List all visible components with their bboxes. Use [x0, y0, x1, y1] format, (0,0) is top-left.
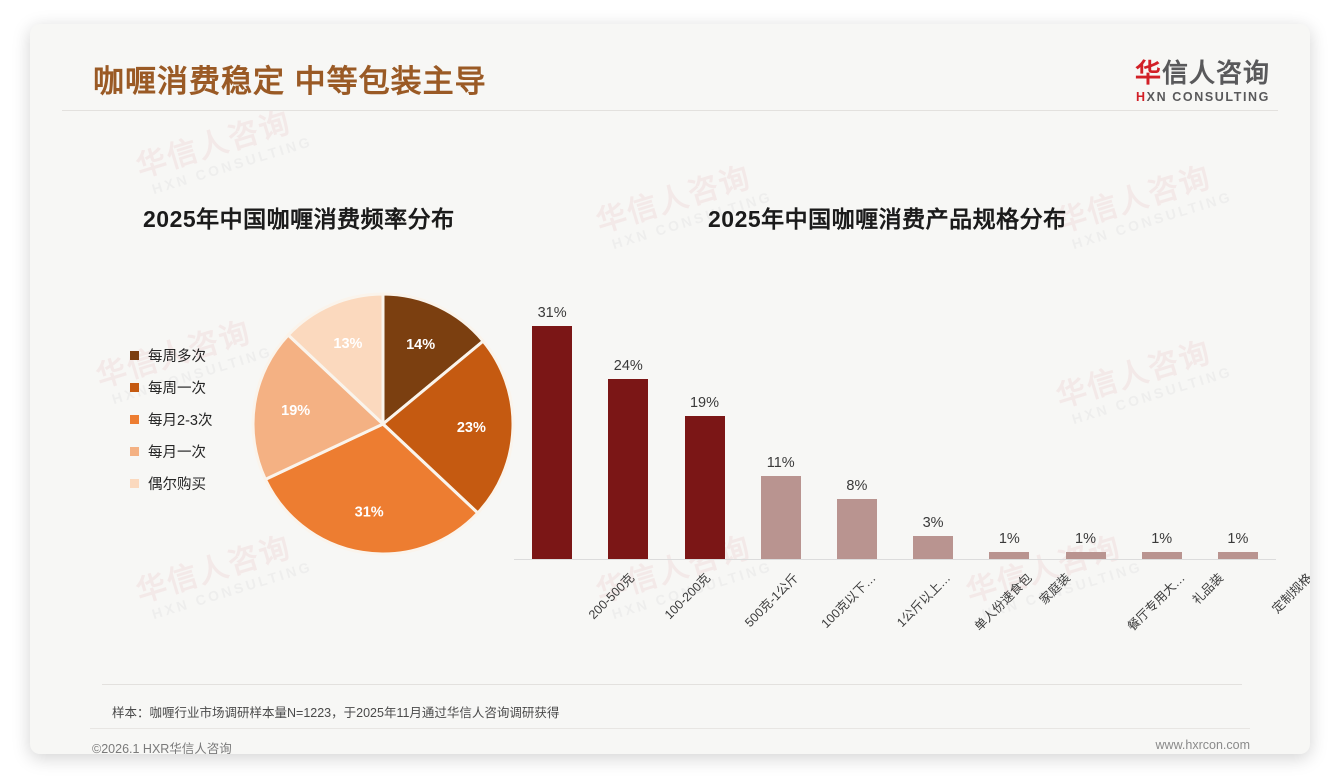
bar-x-axis-label: 100-200克 [659, 568, 714, 623]
bar-column[interactable]: 1% [1218, 531, 1258, 560]
pie-svg: 14%23%31%19%13% [243, 284, 523, 564]
watermark-english: HXN CONSULTING [1070, 188, 1234, 252]
pie-slice-label: 23% [457, 420, 486, 436]
bar-value-label: 24% [614, 358, 643, 374]
bar-x-axis-label: 家庭装 [1034, 568, 1074, 608]
pie-slice-label: 19% [281, 403, 310, 419]
bar-column[interactable]: 1% [989, 531, 1029, 560]
bar-value-label: 19% [690, 395, 719, 411]
logo-chinese-highlight: 华 [1135, 58, 1162, 88]
bar-column[interactable]: 19% [685, 395, 725, 559]
legend-item-label: 每月2-3次 [148, 409, 212, 430]
bar-column[interactable]: 24% [608, 358, 648, 559]
legend-swatch-icon [130, 447, 139, 456]
pie-chart-panel: 每周多次每周一次每月2-3次每月一次偶尔购买 14%23%31%19%13% [90, 254, 560, 614]
watermark: 华信人咨询HXN CONSULTING [1050, 148, 1234, 255]
bar-column[interactable]: 11% [761, 455, 801, 559]
bar-x-axis-label: 单人份速食包 [969, 568, 1035, 634]
bar-x-axis-label: 餐厅专用大… [1121, 568, 1187, 634]
bar-column[interactable]: 3% [913, 515, 953, 559]
bar-rect[interactable] [837, 499, 877, 559]
bar-value-label: 1% [999, 531, 1020, 547]
company-logo: 华信人咨询 HXN CONSULTING [1135, 60, 1270, 104]
bar-value-label: 8% [846, 478, 867, 494]
logo-english-rest: XN CONSULTING [1147, 90, 1270, 104]
legend-swatch-icon [130, 383, 139, 392]
logo-chinese-rest: 信人咨询 [1162, 58, 1270, 88]
legend-swatch-icon [130, 351, 139, 360]
bar-rect[interactable] [913, 536, 953, 559]
legend-item[interactable]: 每月2-3次 [130, 403, 212, 435]
pie-slice-label: 31% [355, 504, 384, 520]
legend-item[interactable]: 每周一次 [130, 371, 212, 403]
legend-item-label: 偶尔购买 [148, 473, 206, 494]
bar-rect[interactable] [685, 416, 725, 559]
bar-value-label: 11% [767, 455, 795, 471]
bar-rect[interactable] [1142, 552, 1182, 560]
bar-column[interactable]: 1% [1142, 531, 1182, 560]
bar-rect[interactable] [1066, 552, 1106, 560]
bar-rect[interactable] [1218, 552, 1258, 560]
pie-slice-label: 13% [333, 336, 362, 352]
bar-value-label: 3% [923, 515, 944, 531]
slide-header: 咖喱消费稳定 中等包装主导 华信人咨询 HXN CONSULTING [30, 24, 1310, 110]
logo-english-highlight: H [1136, 90, 1147, 104]
legend-item-label: 每周多次 [148, 345, 206, 366]
legend-item-label: 每月一次 [148, 441, 206, 462]
logo-english: HXN CONSULTING [1135, 90, 1270, 104]
legend-swatch-icon [130, 479, 139, 488]
footer-copyright: ©2026.1 HXR华信人咨询 [92, 738, 232, 754]
bar-column[interactable]: 31% [532, 305, 572, 559]
bar-value-label: 1% [1075, 531, 1096, 547]
bar-chart-panel: 31%200-500克24%100-200克19%500克-1公斤11%100克… [492, 254, 1282, 654]
legend-item[interactable]: 每月一次 [130, 435, 212, 467]
bar-value-label: 31% [538, 305, 567, 321]
source-note: 样本：咖喱行业市场调研样本量N=1223，于2025年11月通过华信人咨询调研获… [112, 702, 559, 721]
legend-item[interactable]: 每周多次 [130, 339, 212, 371]
bar-column[interactable]: 1% [1066, 531, 1106, 560]
legend-swatch-icon [130, 415, 139, 424]
bar-value-label: 1% [1227, 531, 1248, 547]
pie-slice-label: 14% [406, 337, 435, 353]
legend-item-label: 每周一次 [148, 377, 206, 398]
legend-item[interactable]: 偶尔购买 [130, 467, 212, 499]
bar-chart-plot: 31%200-500克24%100-200克19%500克-1公斤11%100克… [514, 278, 1284, 560]
pie-chart-legend: 每周多次每周一次每月2-3次每月一次偶尔购买 [130, 339, 212, 499]
pie-chart-graphic: 14%23%31%19%13% [243, 284, 523, 569]
bar-rect[interactable] [989, 552, 1029, 560]
slide-card: 华信人咨询HXN CONSULTING华信人咨询HXN CONSULTING华信… [30, 24, 1310, 754]
page-title: 咖喱消费稳定 中等包装主导 [93, 56, 487, 101]
bar-value-label: 1% [1151, 531, 1172, 547]
bar-x-axis-label: 200-500克 [583, 568, 638, 623]
footer-divider [90, 728, 1250, 729]
footer-website[interactable]: www.hxrcon.com [1156, 738, 1250, 752]
footnote-divider [102, 684, 1242, 685]
bar-chart-axis-line [514, 559, 1276, 560]
bar-x-axis-label: 500克-1公斤 [739, 568, 802, 631]
bar-chart-title: 2025年中国咖喱消费产品规格分布 [708, 200, 1067, 234]
header-divider [62, 110, 1278, 111]
bar-x-axis-label: 100克以下… [815, 568, 879, 632]
watermark-chinese: 华信人咨询 [1050, 148, 1230, 241]
bar-column[interactable]: 8% [837, 478, 877, 559]
logo-chinese: 华信人咨询 [1135, 60, 1270, 87]
pie-chart-title: 2025年中国咖喱消费频率分布 [143, 200, 455, 234]
watermark-english: HXN CONSULTING [150, 133, 314, 197]
bar-rect[interactable] [532, 326, 572, 559]
bar-rect[interactable] [608, 379, 648, 559]
bar-x-axis-label: 1公斤以上… [891, 568, 954, 631]
bar-rect[interactable] [761, 476, 801, 559]
bar-x-axis-label: 定制规格 [1267, 568, 1310, 617]
bar-x-axis-label: 礼品装 [1187, 568, 1227, 608]
